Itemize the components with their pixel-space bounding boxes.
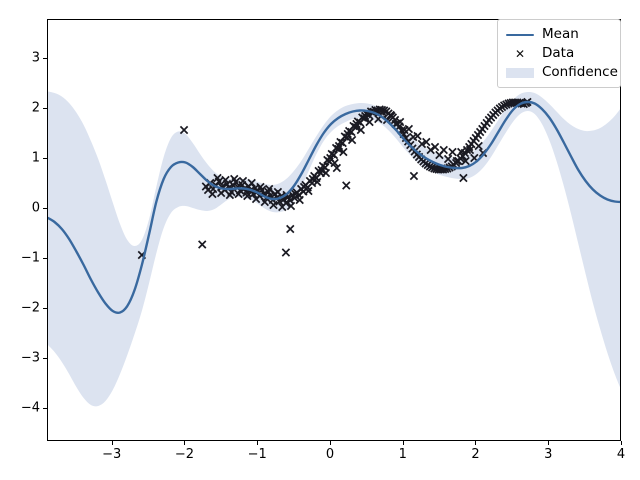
x-tick [403,441,404,445]
legend-item-confidence: Confidence [505,63,612,82]
y-tick [43,308,47,309]
legend-label-data: Data [542,47,574,61]
x-tick [330,441,331,445]
legend-marker-swatch: ✕ [505,47,535,61]
x-tick [548,441,549,445]
y-tick [43,108,47,109]
x-tick-label: −3 [102,447,121,462]
y-tick [43,408,47,409]
x-tick-label: 1 [399,447,407,462]
x-tick [184,441,185,445]
legend-item-data: ✕ Data [505,44,612,63]
data-marker [449,148,456,155]
x-tick [475,441,476,445]
y-tick [43,58,47,59]
y-tick-label: −3 [21,351,40,366]
x-tick-label: 3 [544,447,552,462]
confidence-band [48,92,621,407]
y-tick-label: 1 [32,151,40,166]
legend-label-mean: Mean [542,28,579,42]
y-tick [43,158,47,159]
x-tick-label: −2 [175,447,194,462]
x-tick-label: 2 [471,447,479,462]
x-marker-icon: ✕ [505,47,535,61]
y-tick-label: −4 [21,401,40,416]
x-tick [112,441,113,445]
data-marker [199,241,206,248]
x-tick-label: 0 [326,447,334,462]
x-tick-label: 4 [617,447,625,462]
x-tick-label: −1 [248,447,267,462]
y-tick [43,358,47,359]
legend-patch-swatch [505,66,535,80]
y-tick-label: −2 [21,301,40,316]
y-tick-label: 0 [32,201,40,216]
data-marker [343,182,350,189]
y-tick [43,208,47,209]
y-tick [43,258,47,259]
x-tick [257,441,258,445]
y-tick-label: −1 [21,251,40,266]
chart-legend[interactable]: Mean ✕ Data Confidence [497,19,621,88]
data-marker [287,225,294,232]
data-marker [180,126,187,133]
legend-label-confidence: Confidence [542,66,618,80]
y-tick-label: 3 [32,51,40,66]
figure-canvas: −3−2−101234 3210−1−2−3−4 Mean ✕ Data Con… [0,0,640,480]
data-marker [410,172,417,179]
legend-line-swatch [505,28,535,42]
data-marker [282,249,289,256]
legend-item-mean: Mean [505,25,612,44]
x-tick [621,441,622,445]
y-tick-label: 2 [32,101,40,116]
